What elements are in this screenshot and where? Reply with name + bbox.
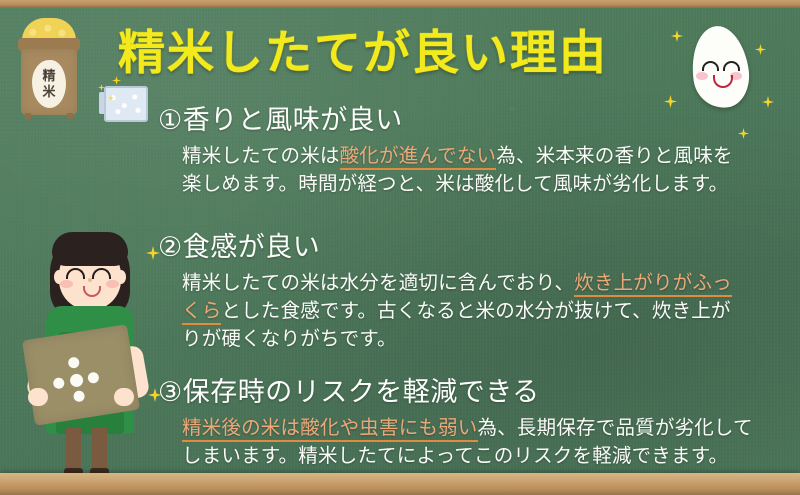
bag-foot-left (25, 113, 31, 119)
mascot-body (687, 23, 754, 112)
body-line-1: 精米後の米は酸化や虫害にも弱い為、長期保存で品質が劣化して (182, 414, 800, 442)
chalkboard-infographic: 精 米 (0, 0, 800, 495)
highlighted-text-1: 精米後の米は酸化や虫害にも弱い (182, 416, 478, 442)
section-1: ①香りと風味が良い 精米したての米は酸化が進んでない為、米本来の香りと風味を楽し… (158, 106, 800, 198)
mascot-cheek-left (696, 72, 708, 80)
plain-text-1: 精米したての米は水分を適切に含んでおり、 (182, 271, 574, 294)
section-3: ③保存時のリスクを軽減できる 精米後の米は酸化や虫害にも弱い為、長期保存で品質が… (158, 378, 800, 470)
plain-text-1: 楽しめます。時間が経つと、米は酸化して風味が劣化します。 (182, 172, 728, 195)
bag-label-char-1: 精 (32, 70, 66, 83)
rice-grain-emblem (49, 353, 104, 408)
rice-tray-illustration (104, 86, 148, 122)
plain-text-1: しまいます。精米したてによってこのリスクを軽減できます。 (182, 444, 728, 467)
woman-holding-rice-sack-illustration (28, 228, 152, 490)
body-line-3: りが硬くなりがちです。 (182, 325, 800, 353)
section-1-body: 精米したての米は酸化が進んでない為、米本来の香りと風味を楽しめます。時間が経つと… (182, 142, 800, 198)
cheek-left (60, 280, 73, 288)
mascot-eye-left (702, 61, 719, 71)
section-3-body: 精米後の米は酸化や虫害にも弱い為、長期保存で品質が劣化してしまいます。精米したて… (182, 414, 800, 470)
bag-label-char-2: 米 (32, 86, 66, 99)
body-line-2: 楽しめます。時間が経つと、米は酸化して風味が劣化します。 (182, 170, 800, 198)
highlighted-text-1: くら (182, 299, 221, 325)
board-chalk-ledge (0, 473, 800, 495)
body-line-2: くらとした食感です。古くなると米の水分が抜けて、炊き上が (182, 297, 800, 325)
section-2-heading: ②食感が良い (158, 233, 800, 262)
highlighted-text-2: 炊き上がりがふっ (574, 271, 732, 297)
highlighted-text-2: 酸化が進んでない (340, 144, 497, 170)
section-1-heading: ①香りと風味が良い (158, 106, 800, 135)
body-line-1: 精米したての米は水分を適切に含んでおり、炊き上がりがふっ (182, 269, 800, 297)
plain-text-2: 為、長期保存で品質が劣化して (478, 416, 753, 439)
nose (88, 278, 92, 282)
emblem-north (67, 356, 80, 369)
section-2-body: 精米したての米は水分を適切に含んでおり、炊き上がりがふっくらとした食感です。古く… (182, 269, 800, 353)
section-3-heading: ③保存時のリスクを軽減できる (158, 378, 800, 407)
page-title: 精米したてが良い理由 (118, 30, 608, 77)
bag-foot-right (67, 113, 73, 119)
rice-grain-mascot (692, 26, 748, 108)
hand-right (114, 388, 134, 406)
hand-left (28, 388, 48, 406)
tray-pan (104, 86, 148, 122)
plain-text-1: 精米したての米は (182, 144, 340, 167)
emblem-south (73, 390, 86, 403)
board-frame-top (0, 0, 800, 8)
emblem-center (69, 373, 84, 388)
emblem-west (53, 377, 66, 390)
bag-label: 精 米 (32, 60, 66, 108)
rice-bag-illustration: 精 米 (14, 18, 84, 120)
plain-text-1: りが硬くなりがちです。 (182, 327, 397, 350)
emblem-east (87, 371, 100, 384)
plain-text-2: とした食感です。古くなると米の水分が抜けて、炊き上が (221, 299, 730, 322)
mascot-eye-right (723, 61, 740, 71)
cheek-right (106, 280, 119, 288)
body-line-2: しまいます。精米したてによってこのリスクを軽減できます。 (182, 442, 800, 470)
hair-fringe (52, 232, 128, 266)
body-line-1: 精米したての米は酸化が進んでない為、米本来の香りと風味を (182, 142, 800, 170)
section-2: ②食感が良い 精米したての米は水分を適切に含んでおり、炊き上がりがふっくらとした… (158, 233, 800, 353)
plain-text-3: 為、米本来の香りと風味を (496, 144, 732, 167)
